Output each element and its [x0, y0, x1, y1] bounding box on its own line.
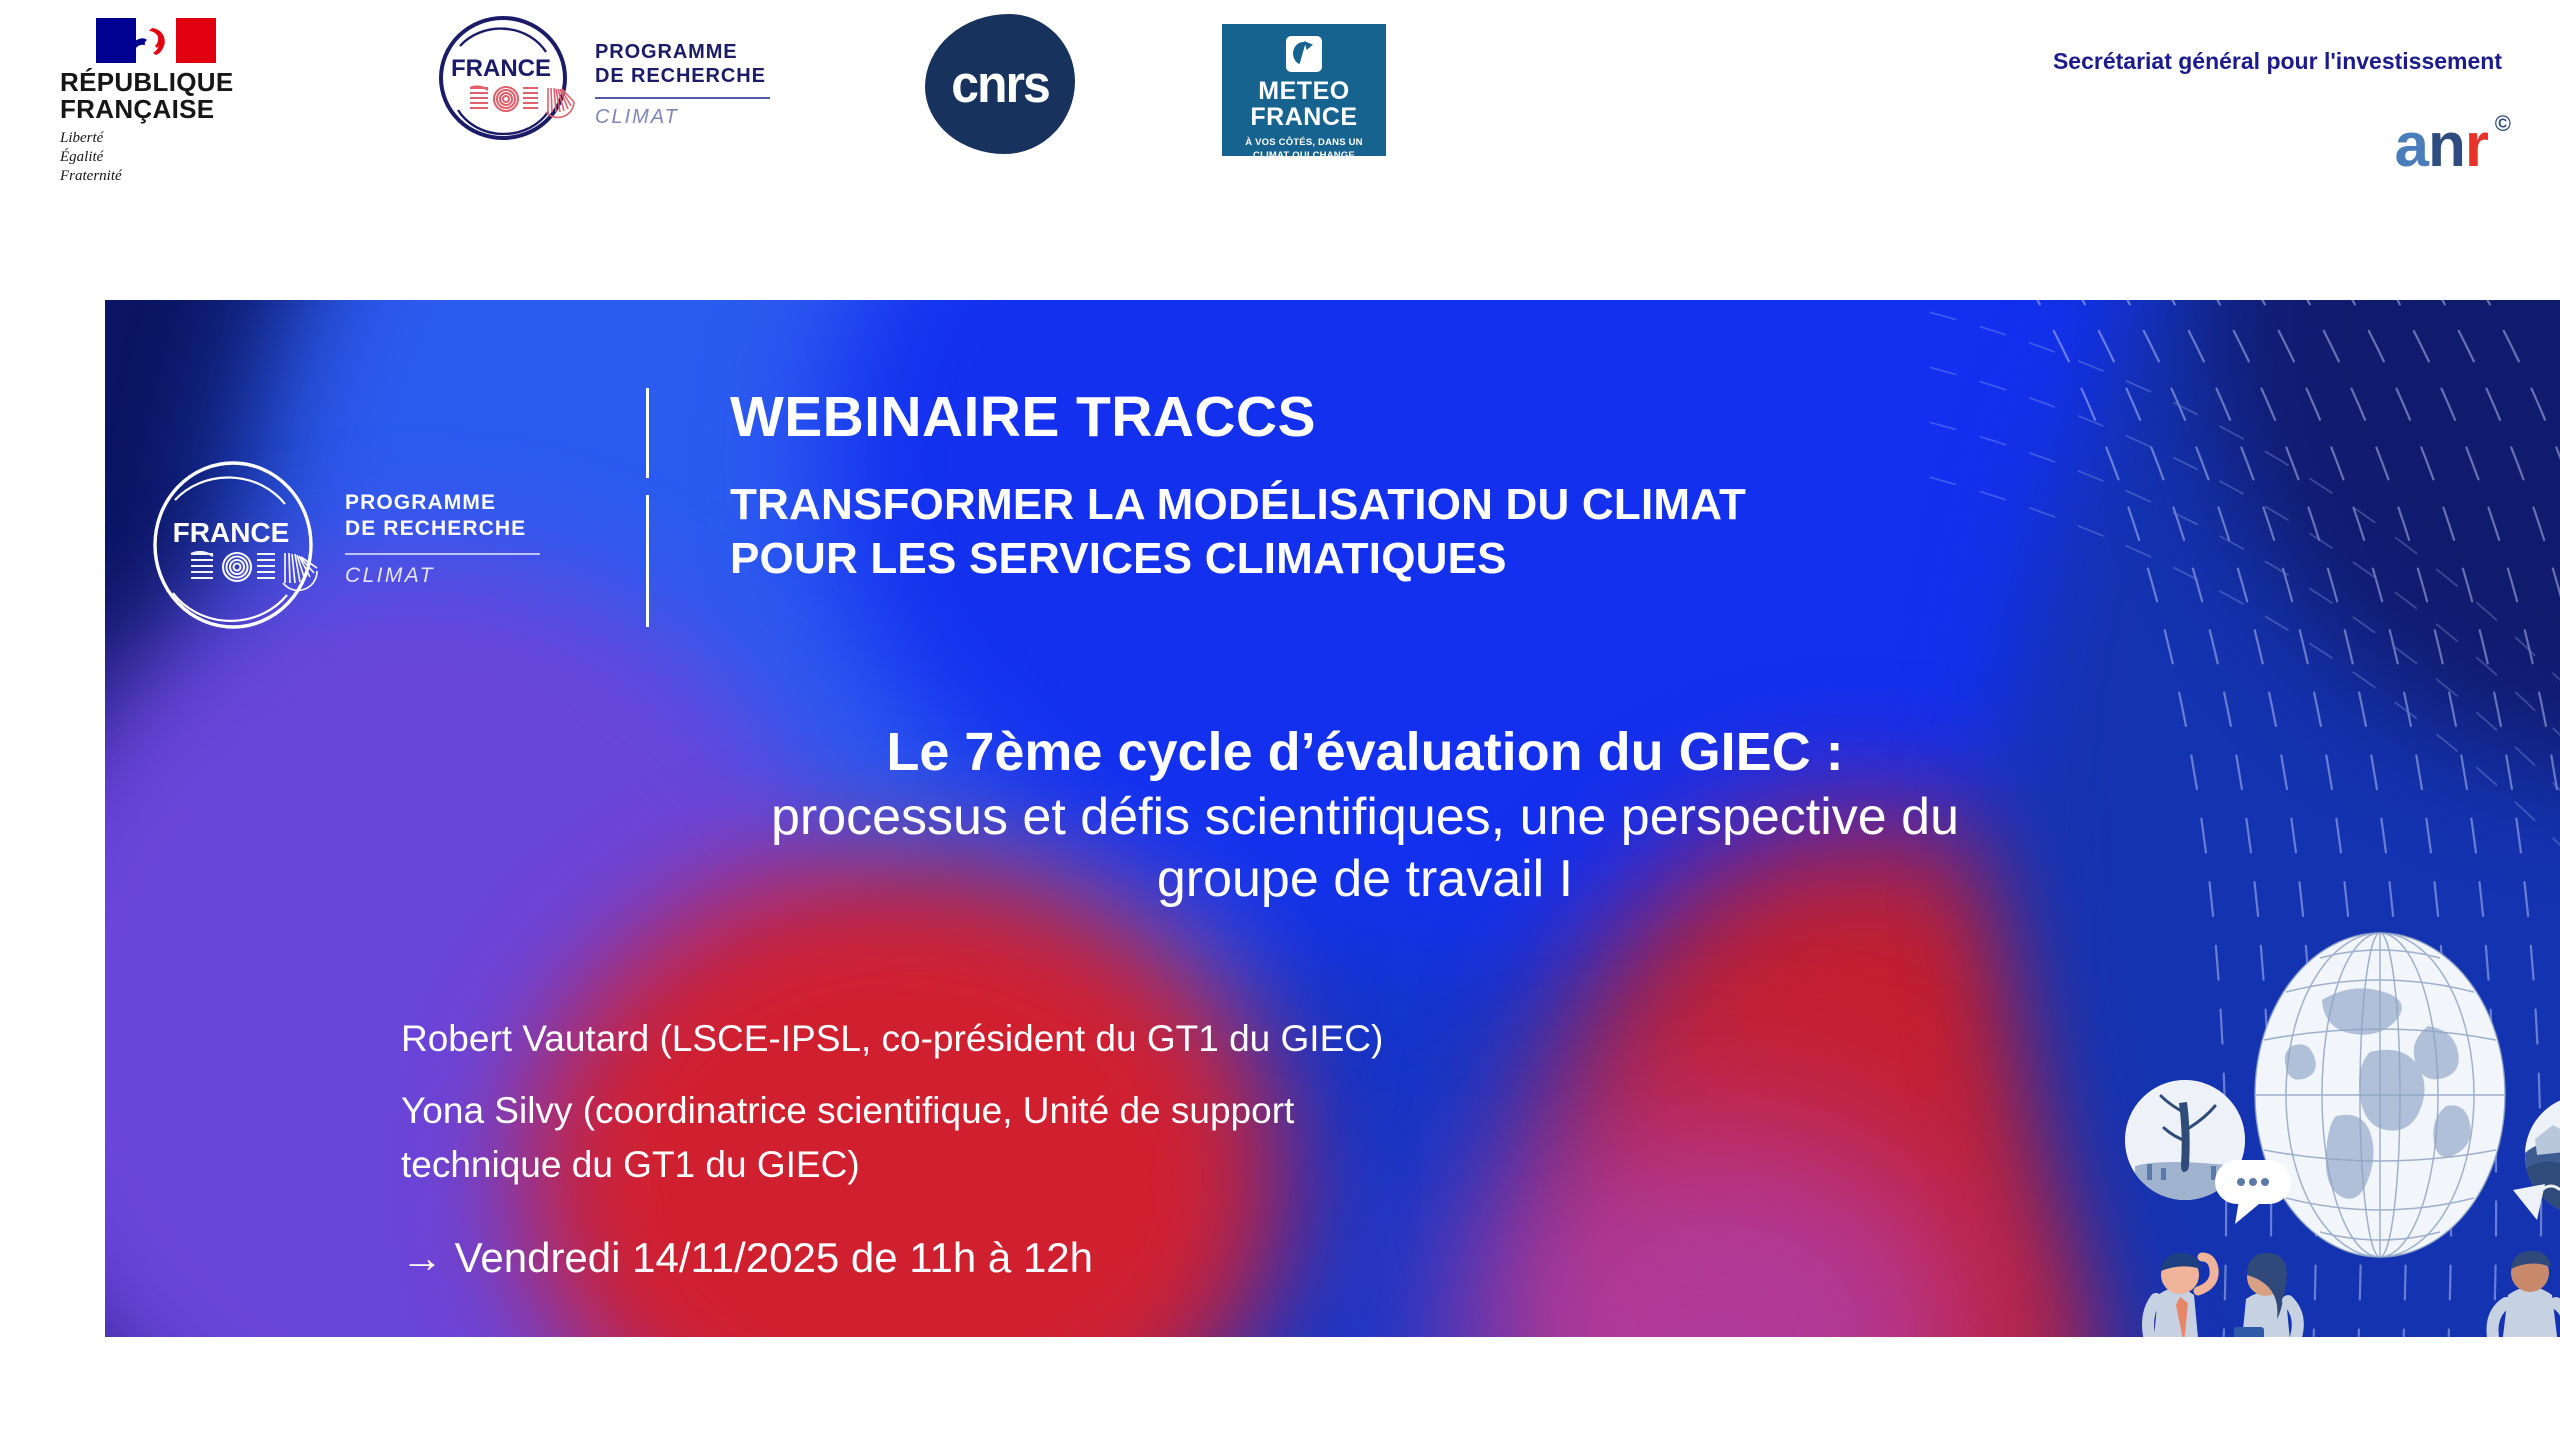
meteo-france-symbol-icon	[1286, 36, 1322, 72]
cnrs-blob-icon: cnrs	[925, 14, 1075, 154]
banner-divider-bottom	[646, 495, 649, 627]
banner-title-line2: processus et défis scientifiques, une pe…	[455, 786, 2275, 848]
meteo-name-line1: METEO	[1228, 78, 1380, 104]
people-illustration-icon	[2130, 1195, 2560, 1337]
speaker-2: Yona Silvy (coordinatrice scientifique, …	[401, 1084, 1801, 1192]
banner-f2030-line3: CLIMAT	[345, 564, 635, 588]
banner-france-2030-logo: FRANCE PROGRAMME DE RECHERCHE CLIMAT	[145, 450, 645, 650]
meteo-name-line2: FRANCE	[1228, 104, 1380, 130]
anr-letter-r: r	[2465, 111, 2488, 180]
anr-logo: anr ©	[2395, 118, 2489, 174]
banner-eyebrow: WEBINAIRE TRACCS	[730, 388, 2430, 448]
france-2030-mark-icon: FRANCE	[430, 14, 590, 142]
france-2030-logo: FRANCE PROGRAMME DE RECHERCHE CLIMAT	[430, 14, 850, 144]
cnrs-logo: cnrs	[925, 14, 1075, 154]
speaker-2-line2: technique du GT1 du GIEC)	[401, 1138, 1801, 1192]
meteo-tagline-line2: CLIMAT QUI CHANGE	[1228, 150, 1380, 163]
banner-title-line1: Le 7ème cycle d’évaluation du GIEC :	[455, 720, 2275, 786]
globe-illustration	[2095, 900, 2560, 1337]
republique-title-line1: RÉPUBLIQUE	[60, 69, 250, 96]
banner-divider-top	[646, 388, 649, 478]
devise-egalite: Égalité	[60, 148, 250, 167]
devise-liberte: Liberté	[60, 129, 250, 148]
webinar-banner: FRANCE PROGRAMME DE RECHERCHE CLIMAT WEB…	[105, 300, 2560, 1337]
republique-title: RÉPUBLIQUE FRANÇAISE	[60, 69, 250, 122]
banner-title-block: Le 7ème cycle d’évaluation du GIEC : pro…	[455, 720, 2275, 911]
devise-fraternite: Fraternité	[60, 167, 250, 186]
banner-subtitle-line2: POUR LES SERVICES CLIMATIQUES	[730, 532, 2430, 586]
banner-subtitle-line1: TRANSFORMER LA MODÉLISATION DU CLIMAT	[730, 478, 2430, 532]
banner-title-line3: groupe de travail I	[455, 848, 2275, 910]
anr-letter-n: n	[2428, 111, 2465, 180]
france-2030-wordmark: PROGRAMME DE RECHERCHE CLIMAT	[595, 40, 845, 129]
f2030-line1: PROGRAMME	[595, 40, 845, 64]
f2030-divider	[595, 97, 770, 99]
meteo-tagline-line1: À VOS CÔTÉS, DANS UN	[1228, 137, 1380, 150]
svg-text:FRANCE: FRANCE	[451, 55, 551, 82]
event-date: → Vendredi 14/11/2025 de 11h à 12h	[401, 1234, 1801, 1282]
banner-france-2030-mark-icon: FRANCE	[145, 450, 335, 640]
french-flag-icon	[96, 18, 216, 63]
republique-title-line2: FRANÇAISE	[60, 96, 250, 123]
republique-francaise-logo: RÉPUBLIQUE FRANÇAISE Liberté Égalité Fra…	[60, 18, 250, 158]
marianne-icon	[122, 24, 176, 58]
person-2	[2234, 1253, 2298, 1337]
banner-f2030-line1: PROGRAMME	[345, 490, 635, 516]
banner-france-2030-wordmark: PROGRAMME DE RECHERCHE CLIMAT	[345, 490, 635, 588]
f2030-line3: CLIMAT	[595, 106, 845, 129]
banner-speakers-block: Robert Vautard (LSCE-IPSL, co-président …	[401, 1012, 1801, 1282]
cnrs-wordmark: cnrs	[951, 54, 1049, 115]
person-3	[2493, 1251, 2560, 1337]
anr-letter-a: a	[2395, 111, 2428, 180]
anr-wordmark: anr ©	[2395, 118, 2489, 174]
banner-f2030-divider	[345, 553, 540, 555]
speaker-1: Robert Vautard (LSCE-IPSL, co-président …	[401, 1012, 1801, 1066]
meteo-france-logo: METEO FRANCE À VOS CÔTÉS, DANS UN CLIMAT…	[1222, 24, 1386, 156]
banner-subtitle: TRANSFORMER LA MODÉLISATION DU CLIMAT PO…	[730, 478, 2430, 585]
svg-text:FRANCE: FRANCE	[173, 517, 290, 548]
f2030-line2: DE RECHERCHE	[595, 64, 845, 88]
banner-f2030-line2: DE RECHERCHE	[345, 516, 635, 542]
person-1	[2148, 1253, 2214, 1337]
banner-headline-block: WEBINAIRE TRACCS TRANSFORMER LA MODÉLISA…	[730, 388, 2430, 585]
header-logo-strip: RÉPUBLIQUE FRANÇAISE Liberté Égalité Fra…	[0, 0, 2560, 300]
republique-devise: Liberté Égalité Fraternité	[60, 129, 250, 187]
anr-registered-icon: ©	[2495, 114, 2510, 134]
sgi-label: Secrétariat général pour l'investissemen…	[2053, 48, 2502, 75]
speaker-2-line1: Yona Silvy (coordinatrice scientifique, …	[401, 1084, 1801, 1138]
